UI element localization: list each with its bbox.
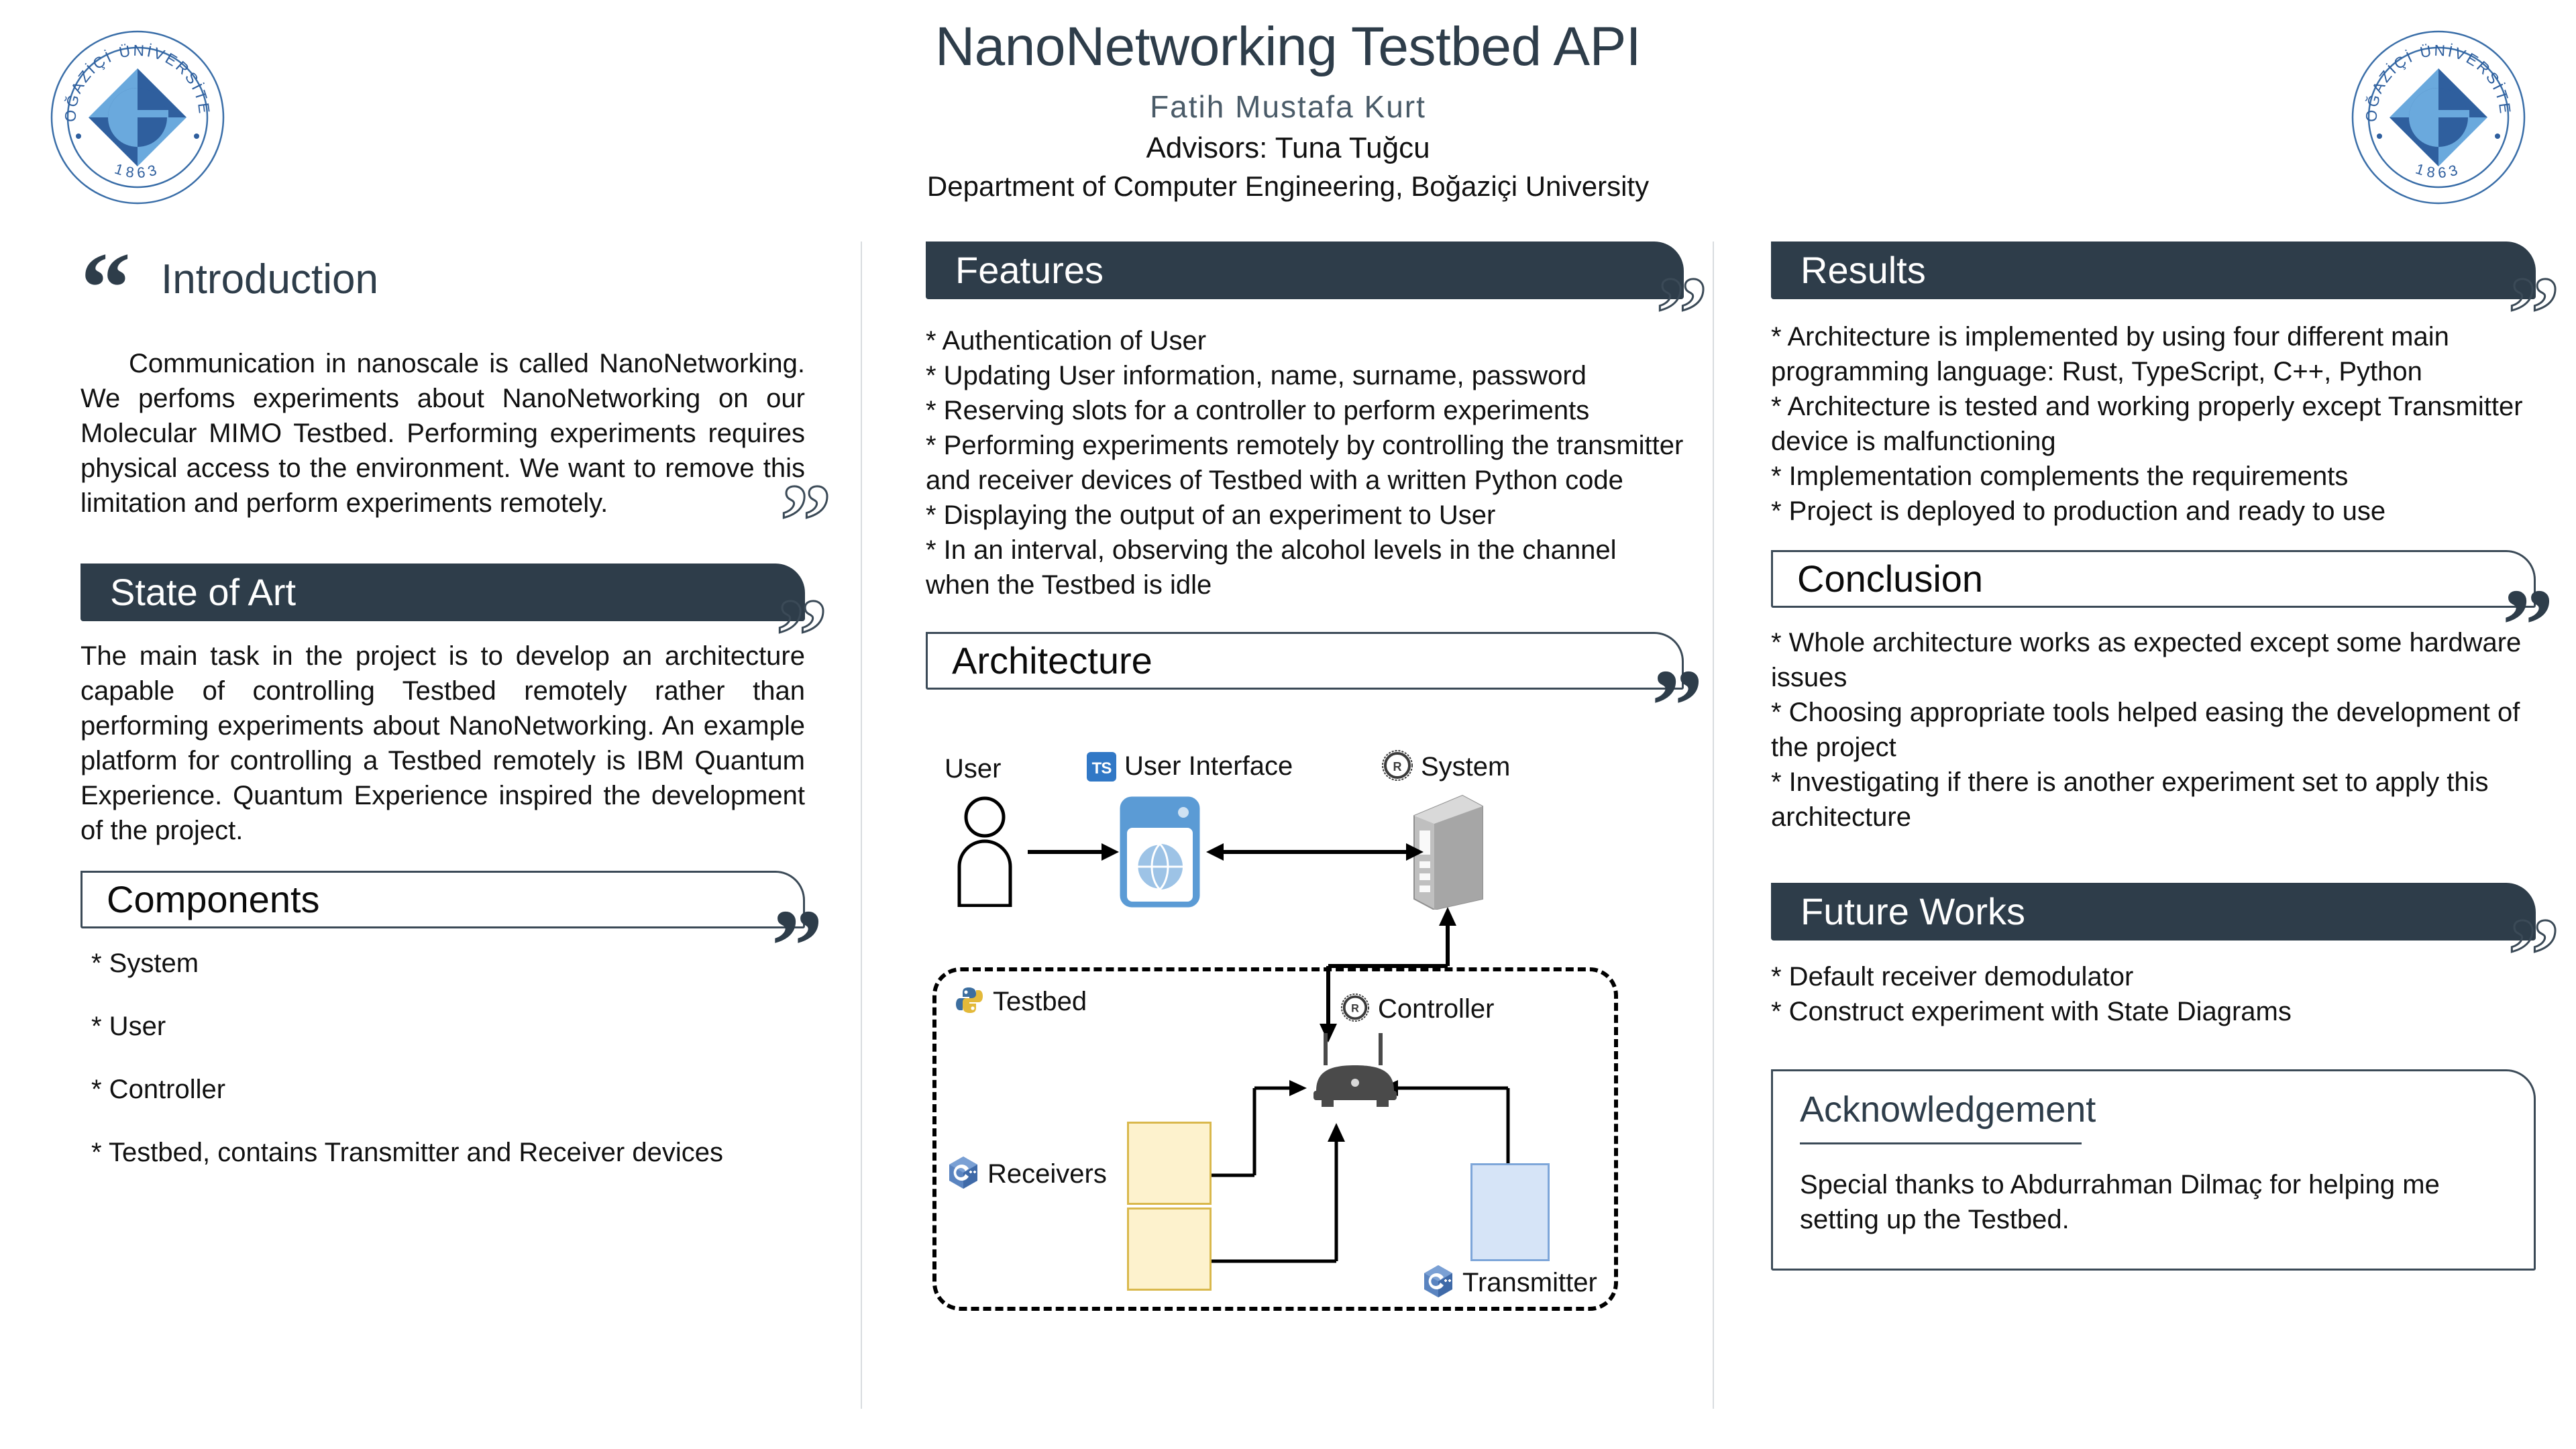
router-icon [1301,1028,1409,1115]
receiver-box-1 [1127,1122,1212,1205]
university-logo-right: BOĞAZİÇİ ÜNİVERSİTESİ 1863 [2348,27,2529,208]
list-item: * Investigating if there is another expe… [1771,765,2536,835]
list-item: * Architecture is tested and working pro… [1771,389,2536,459]
list-item: * Displaying the output of an experiment… [926,498,1684,533]
acknowledgement-heading: Acknowledgement [1800,1091,2507,1128]
advisor-line: Advisors: Tuna Tuğcu [0,131,2576,165]
python-icon [954,985,985,1019]
results-list: * Architecture is implemented by using f… [1771,319,2536,529]
column-divider-right [1713,241,1714,1409]
poster-header: NanoNetworking Testbed API Fatih Mustafa… [0,0,2576,221]
column-right: Results ” * Architecture is implemented … [1771,241,2536,1271]
conclusion-heading-label: Conclusion [1773,560,1983,598]
list-item: * Controller [80,1072,805,1107]
node-label-testbed: Testbed [993,987,1087,1017]
architecture-heading-label: Architecture [928,642,1152,680]
node-label-controller: Controller [1378,994,1494,1024]
components-heading-label: Components [83,881,320,918]
column-divider-left [861,241,862,1409]
list-item: * Performing experiments remotely by con… [926,428,1684,498]
architecture-diagram: User TS User Interface R System [926,712,1684,1316]
node-transmitter: Transmitter [1422,1264,1597,1302]
list-item: * Authentication of User [926,323,1684,358]
conclusion-list: * Whole architecture works as expected e… [1771,625,2536,835]
section-future-works: Future Works ” * Default receiver demodu… [1771,883,2536,1029]
section-state-of-art: State of Art ” The main task in the proj… [80,563,805,848]
node-label-transmitter: Transmitter [1462,1268,1597,1298]
node-controller: R Controller [1340,993,1494,1026]
list-item: * Construct experiment with State Diagra… [1771,994,2536,1029]
features-list: * Authentication of User * Updating User… [926,323,1684,602]
svg-text:R: R [1351,1003,1359,1015]
column-left: “ Introduction Communication in nanoscal… [80,241,805,1198]
column-middle: Features ” * Authentication of User * Up… [926,241,1684,1316]
acknowledgement-rule [1800,1142,2082,1144]
node-testbed: Testbed [954,985,1087,1019]
architecture-header-bar: Architecture ” [926,632,1684,690]
rust-icon: R [1340,993,1370,1026]
list-item: * Testbed, contains Transmitter and Rece… [80,1135,805,1170]
list-item: * User [80,1009,805,1044]
features-header-bar: Features ” [926,241,1684,299]
department-line: Department of Computer Engineering, Boğa… [0,170,2576,203]
section-components: Components ” * System * User * Controlle… [80,871,805,1170]
quote-open-icon: “ [80,237,131,338]
future-works-list: * Default receiver demodulator * Constru… [1771,959,2536,1029]
state-of-art-header-bar: State of Art ” [80,563,805,621]
section-results: Results ” * Architecture is implemented … [1771,241,2536,529]
list-item: * Whole architecture works as expected e… [1771,625,2536,695]
page-title: NanoNetworking Testbed API [0,19,2576,75]
node-receivers: Receivers [947,1155,1107,1193]
list-item: * Architecture is implemented by using f… [1771,319,2536,389]
list-item: * System [80,946,805,981]
introduction-heading: “ Introduction [80,241,805,329]
state-of-art-heading-label: State of Art [80,574,296,611]
list-item: * Choosing appropriate tools helped easi… [1771,695,2536,765]
author-name: Fatih Mustafa Kurt [0,89,2576,125]
list-item: * Updating User information, name, surna… [926,358,1684,393]
list-item: * Project is deployed to production and … [1771,494,2536,529]
list-item: * Implementation complements the require… [1771,459,2536,494]
transmitter-box [1470,1163,1550,1261]
future-works-header-bar: Future Works ” [1771,883,2536,941]
section-conclusion: Conclusion ” * Whole architecture works … [1771,550,2536,835]
list-item: * In an interval, observing the alcohol … [926,533,1684,602]
section-introduction: “ Introduction Communication in nanoscal… [80,241,805,521]
components-list: * System * User * Controller * Testbed, … [80,946,805,1170]
features-heading-label: Features [926,252,1104,289]
conclusion-header-bar: Conclusion ” [1771,550,2536,608]
list-item: * Reserving slots for a controller to pe… [926,393,1684,428]
introduction-body: Communication in nanoscale is called Nan… [80,346,805,521]
university-logo-left: BOĞAZİÇİ ÜNİVERSİTESİ 1863 [47,27,228,208]
acknowledgement-body: Special thanks to Abdurrahman Dilmaç for… [1800,1167,2507,1237]
cpp-icon [1422,1264,1454,1302]
acknowledgement-box: Acknowledgement Special thanks to Abdurr… [1771,1069,2536,1271]
poster-canvas: NanoNetworking Testbed API Fatih Mustafa… [0,0,2576,1449]
results-heading-label: Results [1771,252,1926,289]
results-header-bar: Results ” [1771,241,2536,299]
node-label-receivers: Receivers [987,1159,1107,1189]
future-works-heading-label: Future Works [1771,893,2025,930]
section-architecture: Architecture ” User TS User Interface [926,632,1684,1316]
section-features: Features ” * Authentication of User * Up… [926,241,1684,602]
cpp-icon [947,1155,979,1193]
introduction-heading-label: Introduction [161,259,378,301]
components-header-bar: Components ” [80,871,805,928]
list-item: * Default receiver demodulator [1771,959,2536,994]
receiver-box-2 [1127,1207,1212,1291]
state-of-art-body: The main task in the project is to devel… [80,639,805,848]
